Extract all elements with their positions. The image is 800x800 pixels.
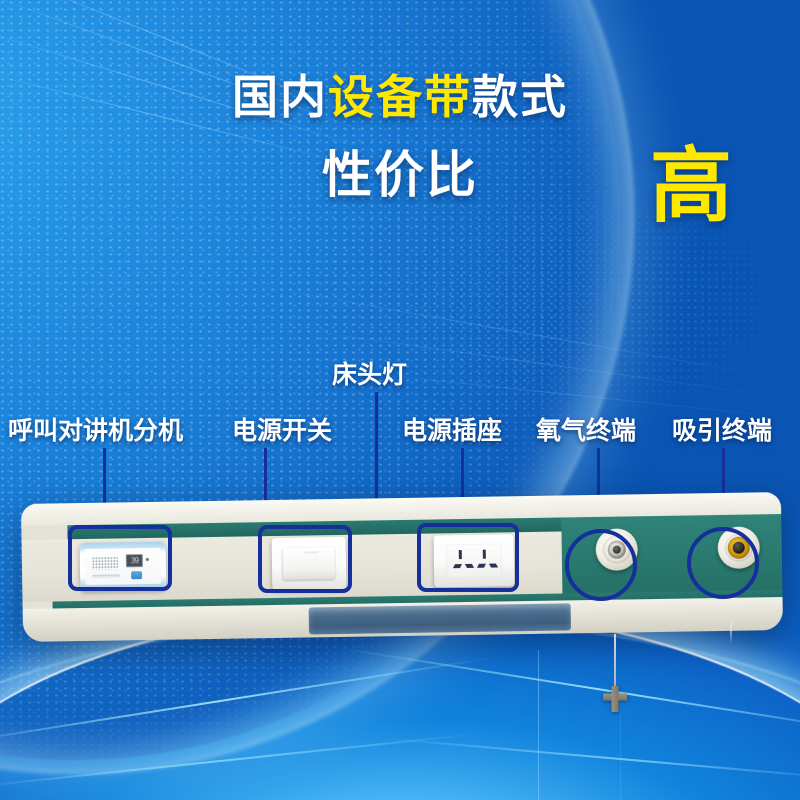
- highlight-circle-oxygen: [565, 529, 637, 601]
- highlight-frame-power-switch: [258, 525, 352, 593]
- suction-tube-cord: [730, 622, 732, 644]
- callout-label-power-socket: 电源插座: [402, 418, 502, 443]
- highlight-frame-power-socket: [417, 523, 519, 592]
- grid-line: [620, 700, 621, 800]
- callout-label-bed-light: 床头灯: [332, 362, 407, 387]
- cord-weight-icon: [603, 686, 627, 712]
- headline-white-b: 款式: [472, 70, 568, 124]
- headline-line-1: 国内设备带款式: [0, 74, 800, 120]
- callout-label-oxygen-terminal: 氧气终端: [536, 418, 636, 443]
- highlight-circle-suction: [687, 527, 759, 599]
- headline-yellow: 设备带: [328, 70, 472, 124]
- world-map-dot-pattern-secondary: [60, 300, 480, 500]
- oxygen-hanging-cord: [614, 634, 616, 692]
- headline-emphasis-word: 高: [650, 146, 732, 228]
- bed-light-strip[interactable]: [309, 603, 571, 634]
- highlight-frame-intercom: [68, 525, 172, 591]
- callout-label-intercom: 呼叫对讲机分机: [8, 418, 183, 443]
- headline-white-a: 国内: [232, 70, 328, 124]
- callout-label-suction-terminal: 吸引终端: [672, 418, 772, 443]
- callout-label-power-switch: 电源开关: [232, 418, 332, 443]
- promo-banner: 国内设备带款式 性价比 高 呼叫对讲机分机 电源开关 床头灯 电源插座 氧气终端…: [0, 0, 800, 800]
- grid-line: [538, 650, 539, 800]
